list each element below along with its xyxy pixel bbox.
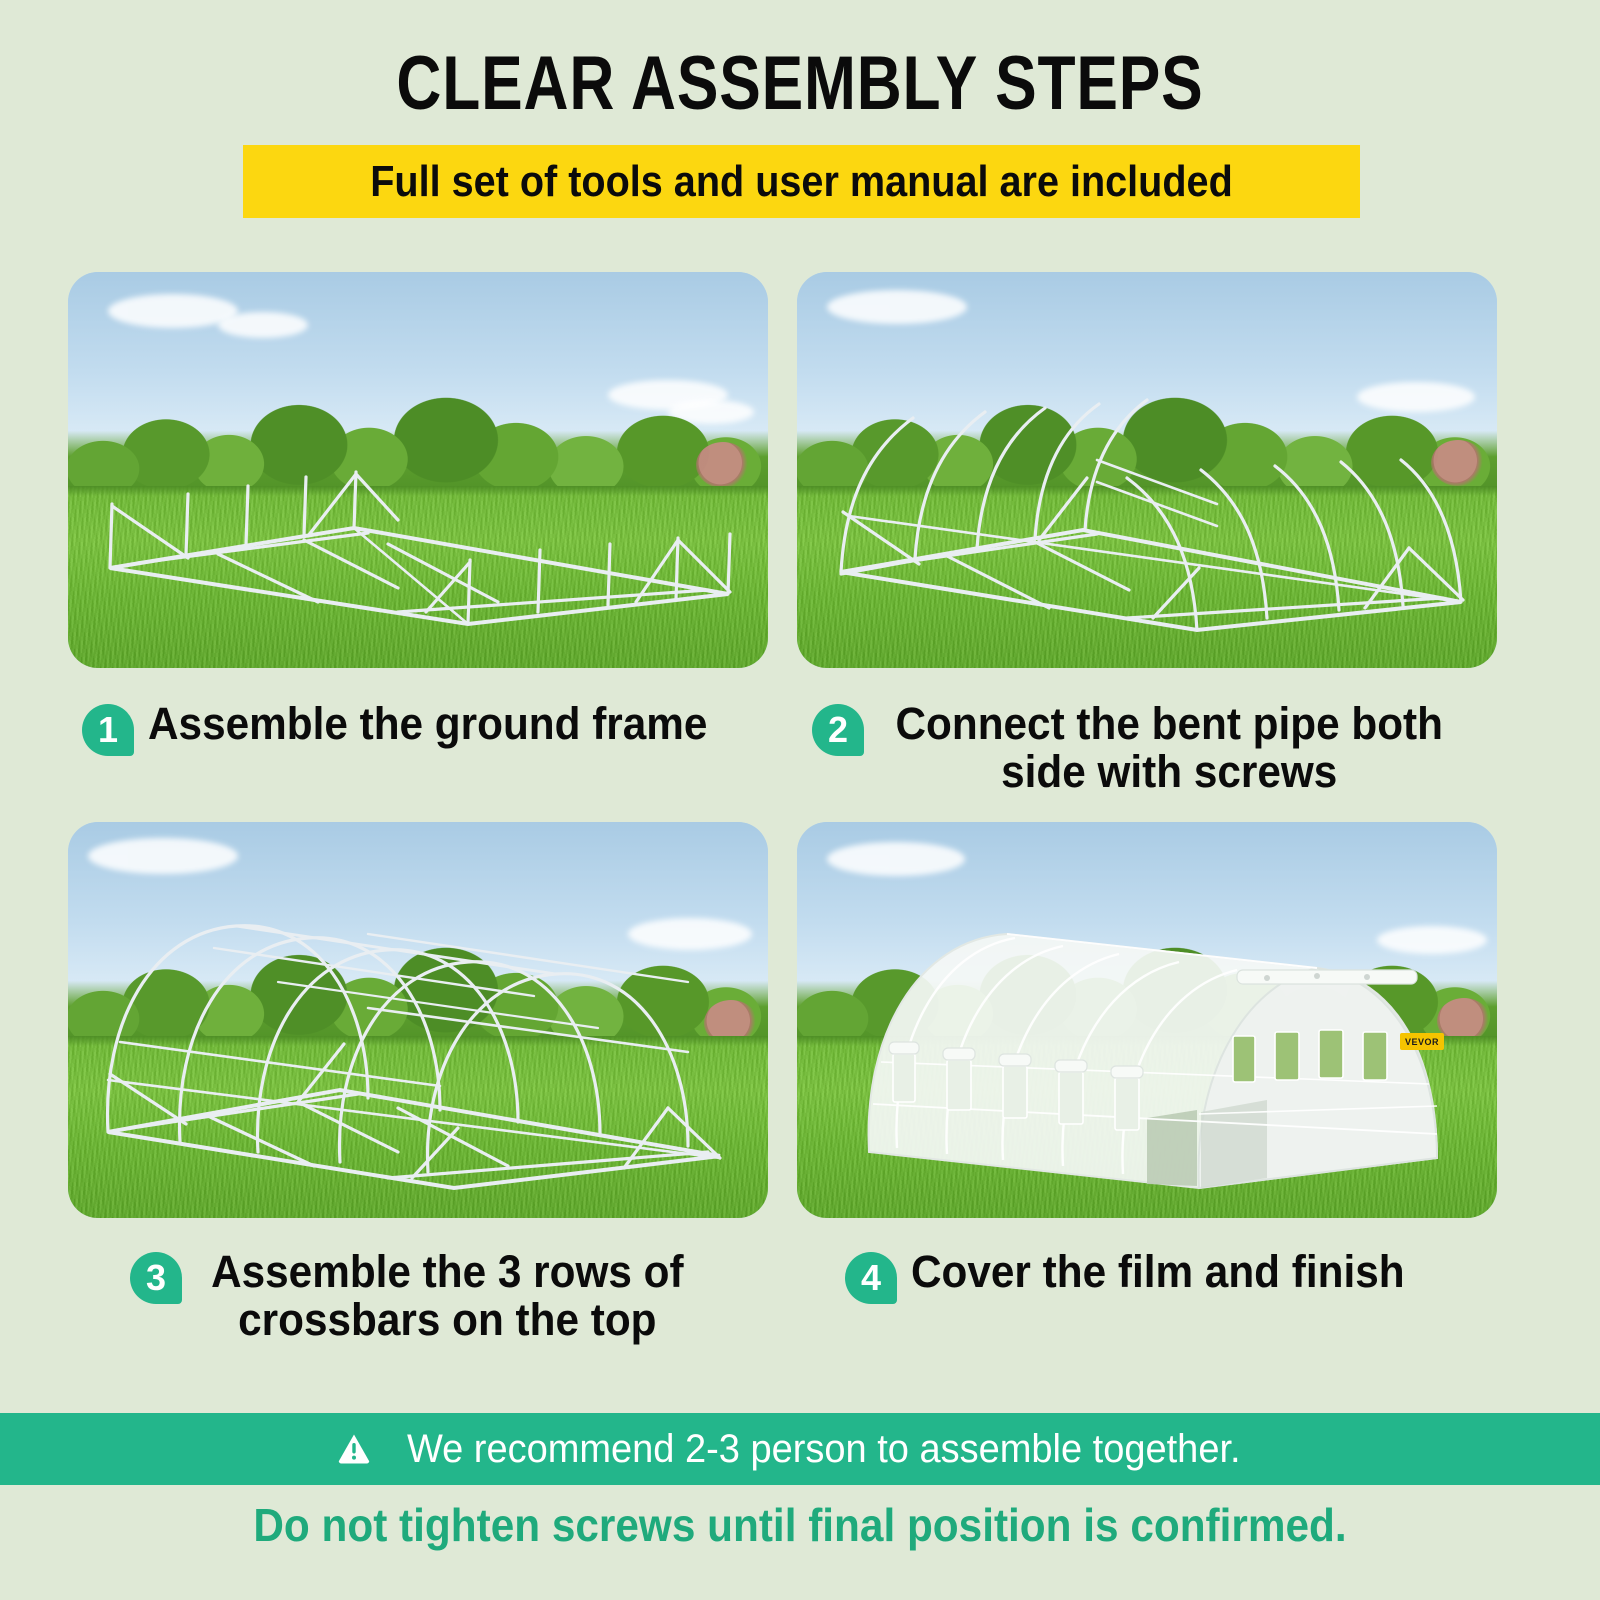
header: CLEAR ASSEMBLY STEPS Full set of tools a… [0, 0, 1600, 240]
step-4-label: Cover the film and finish [911, 1248, 1405, 1296]
step-2-number-badge: 2 [812, 704, 864, 756]
step-1-number-badge: 1 [82, 704, 134, 756]
step-1-label: Assemble the ground frame [148, 700, 707, 748]
recommendation-banner: We recommend 2-3 person to assemble toge… [0, 1413, 1600, 1485]
recommendation-text: We recommend 2-3 person to assemble toge… [407, 1427, 1241, 1472]
subtitle-highlight-bar: Full set of tools and user manual are in… [243, 145, 1360, 218]
crossbar-frame-illustration [68, 822, 768, 1218]
step-1-photo [68, 272, 768, 668]
covered-greenhouse-illustration [797, 822, 1497, 1218]
ground-frame-illustration [68, 272, 768, 668]
step-4-number-badge: 4 [845, 1252, 897, 1304]
step-3-number-badge: 3 [130, 1252, 182, 1304]
step-3-photo [68, 822, 768, 1218]
bent-pipe-frame-illustration [797, 272, 1497, 668]
step-1-caption: 1 Assemble the ground frame [82, 700, 772, 756]
final-note-text: Do not tighten screws until final positi… [64, 1498, 1536, 1552]
page-title: CLEAR ASSEMBLY STEPS [144, 40, 1456, 127]
step-4-photo: VEVOR [797, 822, 1497, 1218]
step-2-photo [797, 272, 1497, 668]
step-4-caption: 4 Cover the film and finish [845, 1248, 1505, 1304]
vevor-logo-badge: VEVOR [1400, 1033, 1444, 1050]
warning-triangle-icon [337, 1432, 371, 1466]
step-2-caption: 2 Connect the bent pipe both side with s… [812, 700, 1512, 796]
step-3-caption: 3 Assemble the 3 rows of crossbars on th… [130, 1248, 770, 1344]
step-3-label: Assemble the 3 rows of crossbars on the … [211, 1248, 683, 1344]
subtitle-text: Full set of tools and user manual are in… [299, 145, 1304, 218]
step-2-label: Connect the bent pipe both side with scr… [895, 700, 1443, 796]
